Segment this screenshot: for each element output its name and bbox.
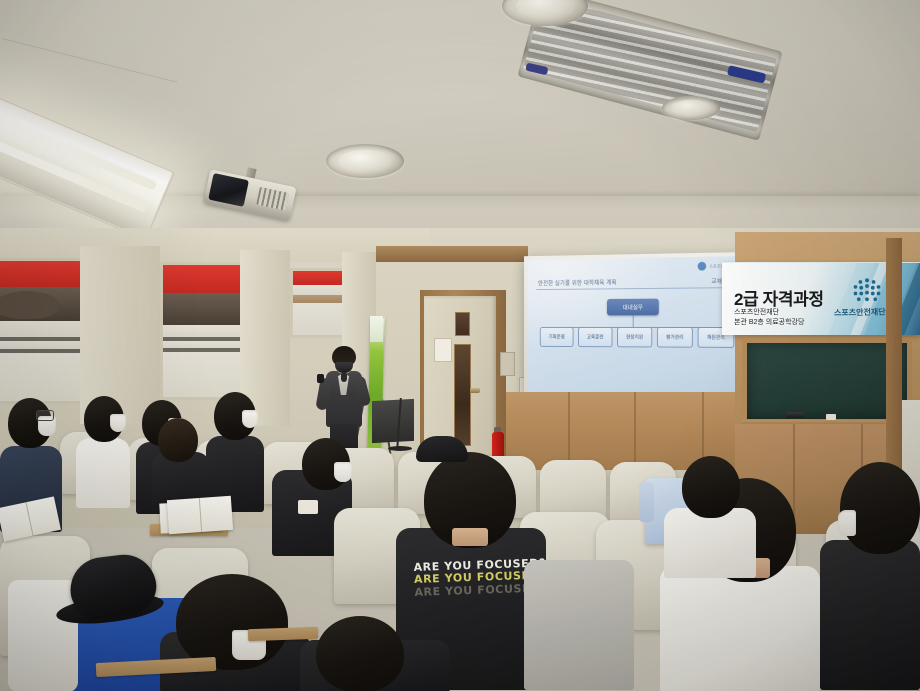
projector-lens bbox=[208, 173, 249, 207]
attendee-neck bbox=[452, 528, 488, 546]
face-mask bbox=[838, 510, 856, 536]
standee-top-panel bbox=[370, 316, 383, 342]
jacket-panel bbox=[8, 580, 78, 691]
ceiling-seam bbox=[3, 38, 178, 83]
podium bbox=[372, 399, 414, 443]
wall-pilaster bbox=[80, 246, 160, 424]
lecture-hall-photo: 스포츠안전재단 안전한 실기를 위한 대학체육 계획 교재 참고 대내실무 기획… bbox=[0, 0, 920, 691]
board-eraser bbox=[786, 412, 804, 418]
handheld-microphone bbox=[341, 372, 347, 382]
frosted-window bbox=[160, 262, 246, 400]
door-handle[interactable] bbox=[470, 388, 480, 393]
face-mask bbox=[110, 414, 126, 432]
org-chart-root-node: 대내실무 bbox=[607, 299, 659, 316]
org-chart-node: 기획운영 bbox=[540, 327, 574, 347]
attendee-head bbox=[316, 616, 404, 691]
draped-hoodie bbox=[524, 560, 634, 690]
jacket-logo bbox=[298, 500, 318, 514]
face-mask bbox=[334, 462, 352, 482]
org-chart-node: 평가관리 bbox=[657, 327, 693, 348]
microphone-stand-base bbox=[388, 446, 412, 451]
banner-venue: 본관 B2층 의료공학강당 bbox=[734, 317, 804, 327]
slide-title: 안전한 실기를 위한 대학체육 계획 bbox=[538, 278, 617, 288]
open-booklet[interactable] bbox=[167, 496, 233, 534]
org-chart-children: 기획운영 교육훈련 현장지원 평가관리 재원관리 bbox=[540, 327, 734, 348]
org-chart-node: 현장지원 bbox=[617, 327, 652, 347]
attendee-head bbox=[840, 462, 920, 554]
wood-wall-panel bbox=[506, 392, 764, 470]
projector-vent bbox=[256, 187, 289, 211]
wall-switch-plate[interactable] bbox=[500, 352, 515, 376]
fire-extinguisher bbox=[492, 432, 504, 458]
attendee-body bbox=[820, 540, 920, 690]
door-sign bbox=[434, 338, 452, 362]
org-chart-node: 교육훈련 bbox=[578, 327, 612, 347]
attendee-body bbox=[660, 566, 820, 691]
recessed-downlight bbox=[326, 144, 404, 178]
org-chart-connector bbox=[633, 315, 634, 327]
attendee-body bbox=[76, 438, 130, 508]
slide-surface: 스포츠안전재단 안전한 실기를 위한 대학체육 계획 교재 참고 대내실무 기획… bbox=[528, 256, 745, 396]
foundation-logo-icon bbox=[850, 277, 884, 305]
banner-logo-text: 스포츠안전재단 bbox=[834, 307, 886, 319]
desk-tablet[interactable] bbox=[248, 627, 318, 641]
face-mask bbox=[242, 410, 258, 428]
cap bbox=[416, 436, 468, 462]
attendee-head bbox=[158, 418, 198, 462]
projection-screen: 스포츠안전재단 안전한 실기를 위한 대학체육 계획 교재 참고 대내실무 기획… bbox=[524, 252, 748, 400]
eyeglasses bbox=[36, 410, 54, 421]
recessed-downlight bbox=[662, 96, 720, 120]
slide-logo-icon bbox=[698, 262, 707, 271]
door-header-trim bbox=[376, 246, 528, 262]
presentation-clicker bbox=[317, 374, 324, 383]
chalk-piece bbox=[826, 414, 836, 420]
banner-subtitle: 스포츠안전재단 bbox=[734, 307, 779, 317]
door-vision-panel bbox=[455, 312, 470, 336]
attendee-head bbox=[682, 456, 740, 518]
attendee-body bbox=[664, 508, 756, 578]
frosted-window bbox=[290, 268, 348, 338]
frosted-window bbox=[0, 258, 86, 404]
door-vision-panel bbox=[454, 344, 471, 446]
